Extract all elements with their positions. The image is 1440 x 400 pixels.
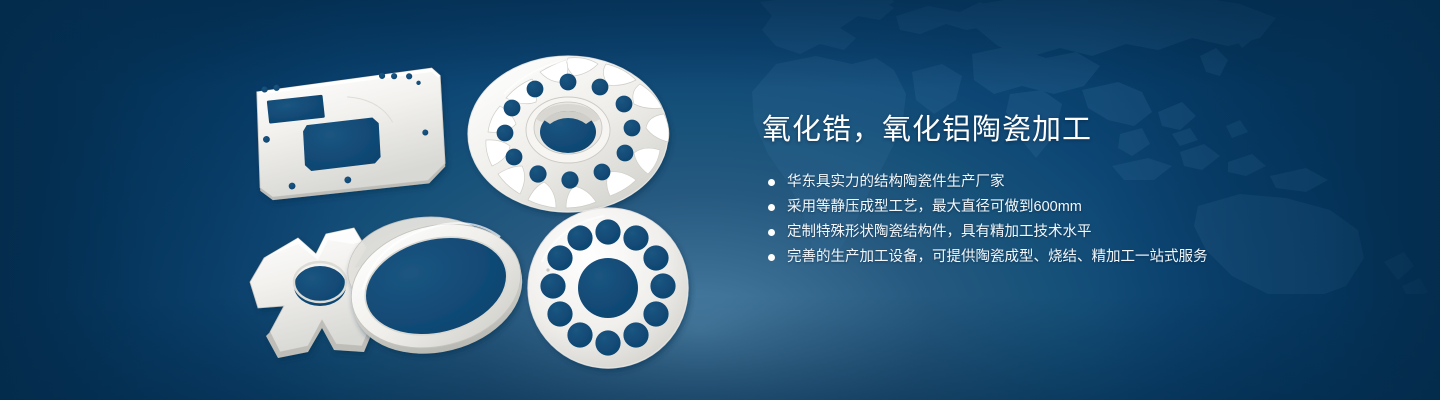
list-item: 华东具实力的结构陶瓷件生产厂家 — [762, 171, 1362, 193]
ceramic-ring — [338, 207, 535, 371]
list-item-label: 定制特殊形状陶瓷结构件，具有精加工技术水平 — [787, 221, 1092, 243]
list-item-label: 华东具实力的结构陶瓷件生产厂家 — [787, 171, 1005, 193]
ceramic-parts-photo — [236, 52, 696, 388]
list-item-label: 完善的生产加工设备，可提供陶瓷成型、烧结、精加工一站式服务 — [787, 246, 1208, 268]
ceramic-perforated-disc — [528, 208, 688, 368]
list-item: 定制特殊形状陶瓷结构件，具有精加工技术水平 — [762, 221, 1362, 243]
list-item-label: 采用等静压成型工艺，最大直径可做到600mm — [787, 196, 1082, 218]
page-title: 氧化锆，氧化铝陶瓷加工 — [762, 112, 1362, 148]
ceramic-impeller — [468, 56, 669, 212]
hero-banner: 氧化锆，氧化铝陶瓷加工 华东具实力的结构陶瓷件生产厂家 采用等静压成型工艺，最大… — [0, 0, 1440, 400]
ceramic-plate — [254, 68, 447, 201]
feature-list: 华东具实力的结构陶瓷件生产厂家 采用等静压成型工艺，最大直径可做到600mm 定… — [762, 171, 1362, 268]
bullet-dot-icon — [768, 229, 775, 236]
bullet-dot-icon — [768, 179, 775, 186]
list-item: 采用等静压成型工艺，最大直径可做到600mm — [762, 196, 1362, 218]
list-item: 完善的生产加工设备，可提供陶瓷成型、烧结、精加工一站式服务 — [762, 246, 1362, 268]
bullet-dot-icon — [768, 254, 775, 261]
bullet-dot-icon — [768, 204, 775, 211]
banner-text-block: 氧化锆，氧化铝陶瓷加工 华东具实力的结构陶瓷件生产厂家 采用等静压成型工艺，最大… — [762, 112, 1362, 271]
